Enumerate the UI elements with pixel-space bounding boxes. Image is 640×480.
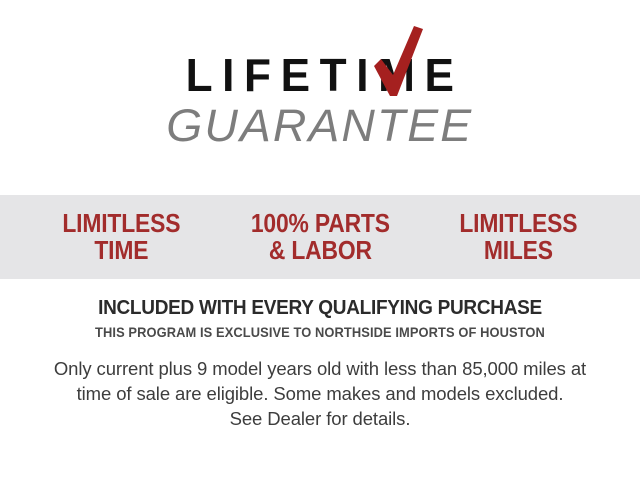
fine-print: Only current plus 9 model years old with… — [40, 356, 600, 431]
benefits-band: LIMITLESS TIME 100% PARTS & LABOR LIMITL… — [0, 195, 640, 279]
benefit-limitless-miles: LIMITLESS MILES — [431, 210, 606, 264]
details-block: INCLUDED WITH EVERY QUALIFYING PURCHASE … — [0, 297, 640, 432]
details-subheading: THIS PROGRAM IS EXCLUSIVE TO NORTHSIDE I… — [26, 324, 615, 340]
benefit-parts-and-labor: 100% PARTS & LABOR — [233, 210, 408, 264]
fine-print-line: time of sale are eligible. Some makes an… — [40, 381, 600, 406]
benefit-line-1: 100% PARTS — [251, 208, 390, 238]
logo-secondary-text: GUARANTEE — [166, 103, 475, 148]
benefit-line-2: TIME — [34, 237, 209, 264]
fine-print-line: See Dealer for details. — [40, 406, 600, 431]
lifetime-guarantee-poster: LIFETIME GUARANTEE LIMITLESS TIME 100% P… — [0, 0, 640, 480]
benefit-line-2: MILES — [431, 237, 606, 264]
benefit-limitless-time: LIMITLESS TIME — [34, 210, 209, 264]
logo-primary-text: LIFETIME — [176, 52, 464, 98]
fine-print-line: Only current plus 9 model years old with… — [40, 356, 600, 381]
benefit-line-1: LIMITLESS — [460, 208, 578, 238]
benefit-line-1: LIMITLESS — [62, 208, 180, 238]
details-heading: INCLUDED WITH EVERY QUALIFYING PURCHASE — [16, 297, 624, 320]
logo-lockup: LIFETIME GUARANTEE — [170, 52, 470, 148]
logo-block: LIFETIME GUARANTEE — [0, 52, 640, 148]
benefit-line-2: & LABOR — [233, 237, 408, 264]
